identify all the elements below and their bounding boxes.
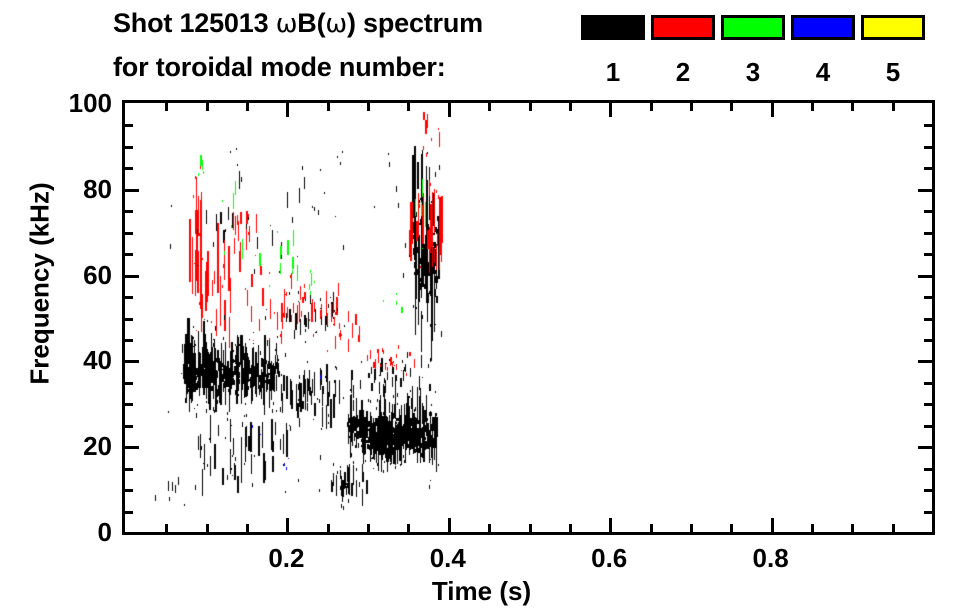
- tick-mark: [246, 103, 249, 111]
- tick-mark: [448, 103, 451, 117]
- tick-mark: [125, 232, 133, 235]
- x-tick-label: 0.4: [403, 543, 493, 573]
- y-tick-label: 0: [22, 517, 112, 547]
- x-tick-label: 0.2: [241, 543, 331, 573]
- legend-label-mode-5: 5: [861, 57, 925, 87]
- tick-mark: [125, 189, 139, 192]
- tick-mark: [125, 425, 133, 428]
- spectrogram-figure: Shot 125013 ωB(ω) spectrum for toroidal …: [0, 0, 963, 615]
- tick-mark: [690, 103, 693, 111]
- tick-mark: [892, 103, 895, 111]
- tick-mark: [125, 253, 133, 256]
- legend-swatch-mode-4: [791, 15, 855, 40]
- tick-mark: [650, 103, 653, 111]
- tick-mark: [924, 489, 932, 492]
- tick-mark: [811, 524, 814, 532]
- legend-label-mode-4: 4: [791, 57, 855, 87]
- tick-mark: [650, 524, 653, 532]
- tick-mark: [730, 524, 733, 532]
- tick-mark: [924, 296, 932, 299]
- tick-mark: [811, 103, 814, 111]
- y-axis-title: Frequency (kHz): [25, 144, 56, 424]
- tick-mark: [286, 518, 289, 532]
- tick-mark: [125, 318, 133, 321]
- legend-swatch-mode-2: [651, 15, 715, 40]
- tick-mark: [924, 425, 932, 428]
- legend-swatch-mode-5: [861, 15, 925, 40]
- tick-mark: [125, 382, 133, 385]
- tick-mark: [206, 103, 209, 111]
- tick-mark: [125, 468, 133, 471]
- tick-mark: [125, 489, 133, 492]
- tick-mark: [569, 524, 572, 532]
- tick-mark: [125, 210, 133, 213]
- spectrogram-data-layer: [125, 103, 932, 532]
- legend-label-mode-2: 2: [651, 57, 715, 87]
- tick-mark: [569, 103, 572, 111]
- tick-mark: [609, 103, 612, 117]
- tick-mark: [529, 103, 532, 111]
- tick-mark: [529, 524, 532, 532]
- tick-mark: [125, 167, 133, 170]
- tick-mark: [918, 275, 932, 278]
- tick-mark: [924, 253, 932, 256]
- tick-mark: [924, 318, 932, 321]
- tick-mark: [918, 446, 932, 449]
- tick-mark: [771, 103, 774, 117]
- tick-mark: [125, 146, 133, 149]
- x-tick-label: 0.8: [726, 543, 816, 573]
- tick-mark: [488, 103, 491, 111]
- tick-mark: [924, 382, 932, 385]
- tick-mark: [246, 524, 249, 532]
- tick-mark: [407, 524, 410, 532]
- legend-swatch-mode-1: [581, 15, 645, 40]
- plot-area: [122, 100, 935, 535]
- tick-mark: [125, 446, 139, 449]
- tick-mark: [892, 524, 895, 532]
- tick-mark: [924, 167, 932, 170]
- tick-mark: [367, 524, 370, 532]
- tick-mark: [609, 518, 612, 532]
- tick-mark: [924, 210, 932, 213]
- tick-mark: [918, 360, 932, 363]
- legend-label-mode-1: 1: [581, 57, 645, 87]
- tick-mark: [924, 403, 932, 406]
- tick-mark: [488, 524, 491, 532]
- tick-mark: [924, 146, 932, 149]
- tick-mark: [206, 524, 209, 532]
- tick-mark: [367, 103, 370, 111]
- tick-mark: [327, 524, 330, 532]
- tick-mark: [924, 468, 932, 471]
- tick-mark: [918, 189, 932, 192]
- x-tick-label: 0.6: [564, 543, 654, 573]
- tick-mark: [407, 103, 410, 111]
- y-tick-label: 20: [22, 431, 112, 461]
- tick-mark: [327, 103, 330, 111]
- legend-swatch-mode-3: [721, 15, 785, 40]
- x-axis-title: Time (s): [0, 576, 963, 607]
- tick-mark: [771, 518, 774, 532]
- tick-mark: [286, 103, 289, 117]
- tick-mark: [125, 360, 139, 363]
- tick-mark: [125, 296, 133, 299]
- legend-label-mode-3: 3: [721, 57, 785, 87]
- tick-mark: [851, 524, 854, 532]
- tick-mark: [924, 124, 932, 127]
- tick-mark: [924, 339, 932, 342]
- tick-mark: [125, 511, 133, 514]
- tick-mark: [924, 511, 932, 514]
- legend: 12345: [0, 0, 963, 95]
- tick-mark: [448, 518, 451, 532]
- tick-mark: [851, 103, 854, 111]
- tick-mark: [730, 103, 733, 111]
- tick-mark: [165, 524, 168, 532]
- tick-mark: [690, 524, 693, 532]
- tick-mark: [125, 275, 139, 278]
- tick-mark: [165, 103, 168, 111]
- y-tick-label: 100: [22, 88, 112, 118]
- tick-mark: [125, 339, 133, 342]
- tick-mark: [125, 124, 133, 127]
- tick-mark: [125, 403, 133, 406]
- tick-mark: [924, 232, 932, 235]
